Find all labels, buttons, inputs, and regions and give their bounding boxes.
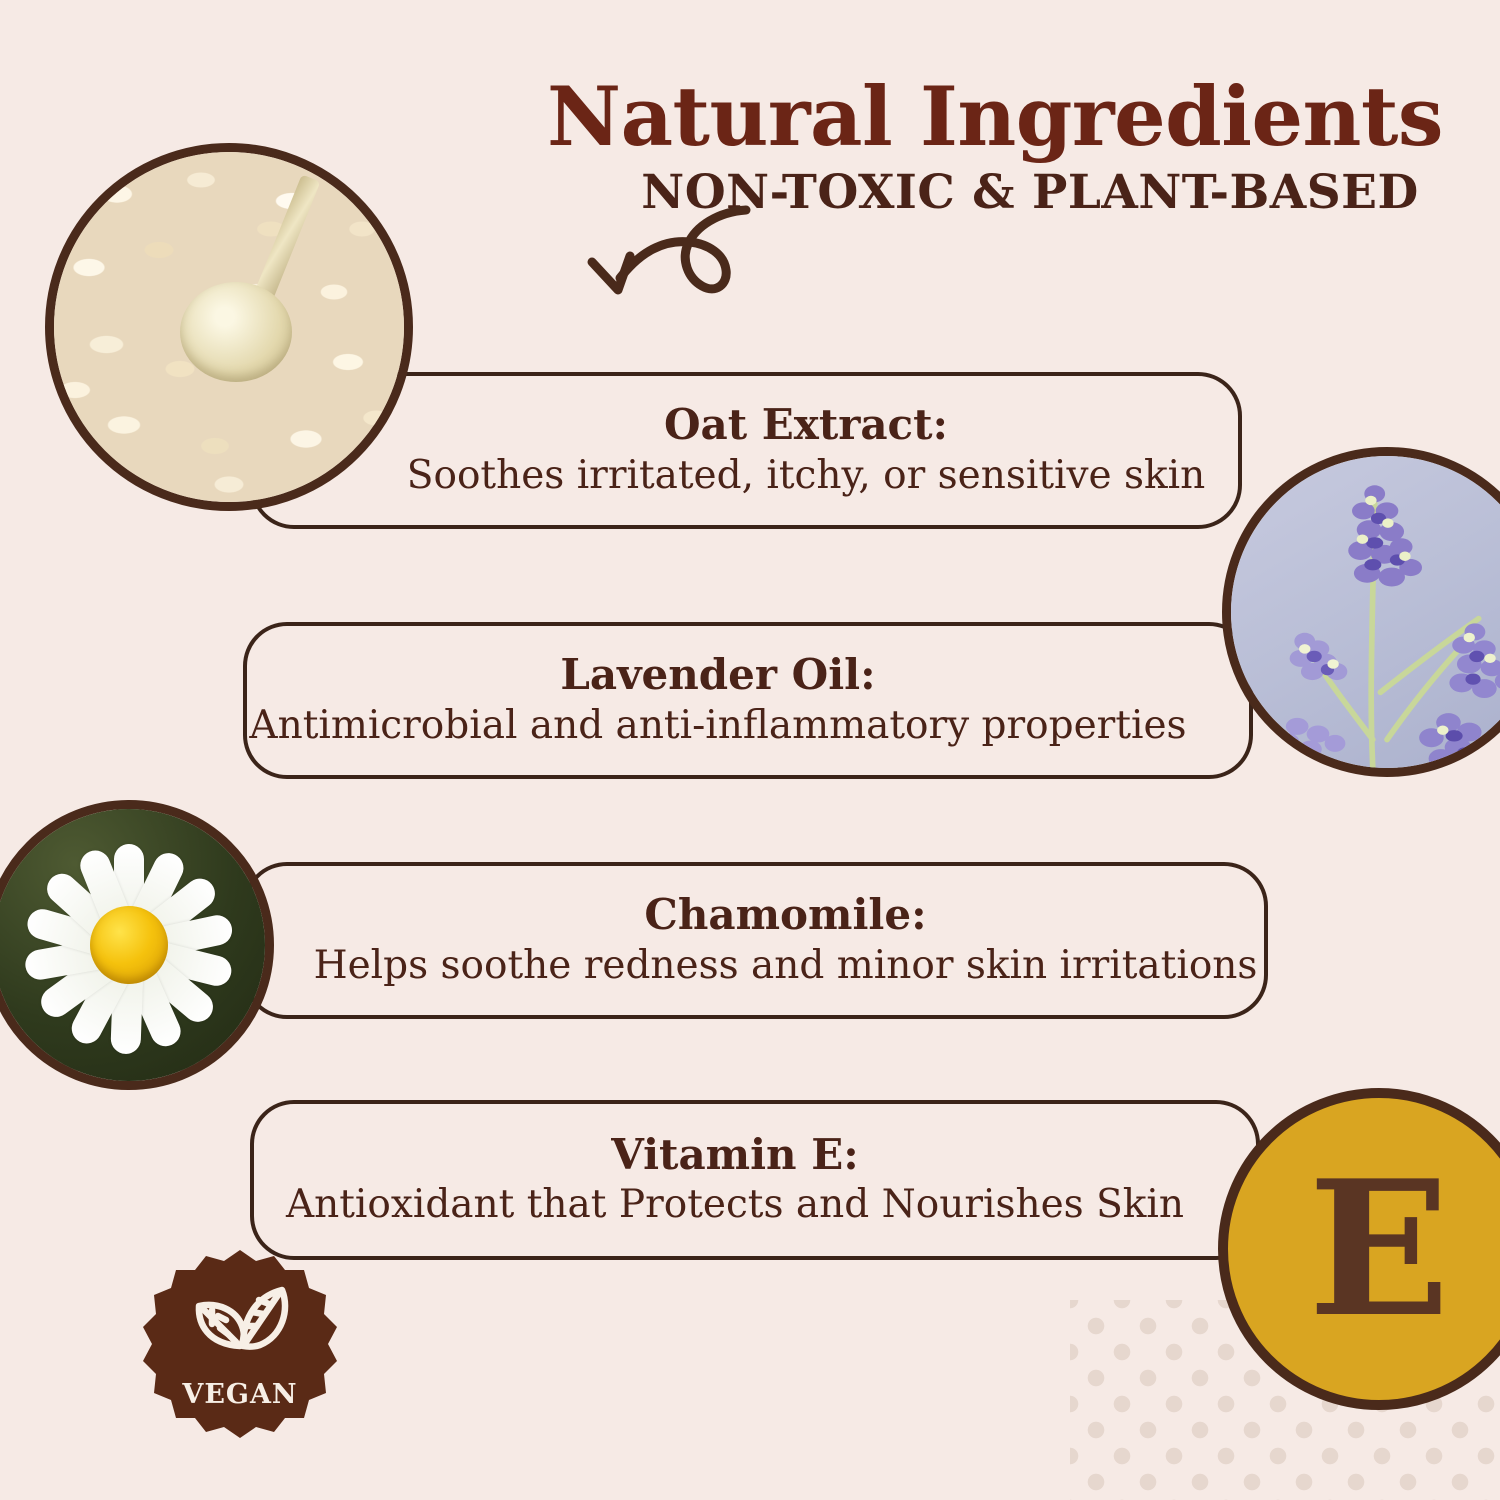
vitamin-e-letter: E xyxy=(1308,1156,1450,1342)
chamomile-daisy-flower-photo xyxy=(0,800,274,1090)
ingredient-name: Chamomile: xyxy=(644,894,926,937)
ingredient-description: Helps soothe redness and minor skin irri… xyxy=(314,946,1258,987)
lavender-sprigs-illustration xyxy=(1231,456,1500,768)
ingredient-name: Vitamin E: xyxy=(611,1134,859,1177)
ingredient-description: Soothes irritated, itchy, or sensitive s… xyxy=(407,456,1206,497)
ingredient-description: Antioxidant that Protects and Nourishes … xyxy=(286,1185,1184,1226)
infographic-canvas: Natural Ingredients NON-TOXIC & PLANT-BA… xyxy=(0,0,1500,1500)
lavender-flowers-photo xyxy=(1222,447,1500,777)
oat-flakes-with-spoon-photo xyxy=(45,143,413,511)
ingredient-description: Antimicrobial and anti-inflammatory prop… xyxy=(249,706,1186,747)
page-title: Natural Ingredients xyxy=(520,78,1470,157)
ingredient-card-vitamin-e: Vitamin E: Antioxidant that Protects and… xyxy=(250,1100,1260,1260)
ingredient-card-lavender-oil: Lavender Oil: Antimicrobial and anti-inf… xyxy=(243,622,1253,779)
ingredient-name: Oat Extract: xyxy=(664,404,948,447)
curly-arrow-down-left-icon xyxy=(568,186,758,326)
vegan-badge: VEGAN xyxy=(140,1248,340,1448)
daisy-center xyxy=(90,906,168,984)
ingredient-card-chamomile: Chamomile: Helps soothe redness and mino… xyxy=(243,862,1268,1019)
vegan-badge-label: VEGAN xyxy=(140,1379,340,1410)
ingredient-name: Lavender Oil: xyxy=(560,654,875,697)
spoon-bowl xyxy=(180,282,292,382)
